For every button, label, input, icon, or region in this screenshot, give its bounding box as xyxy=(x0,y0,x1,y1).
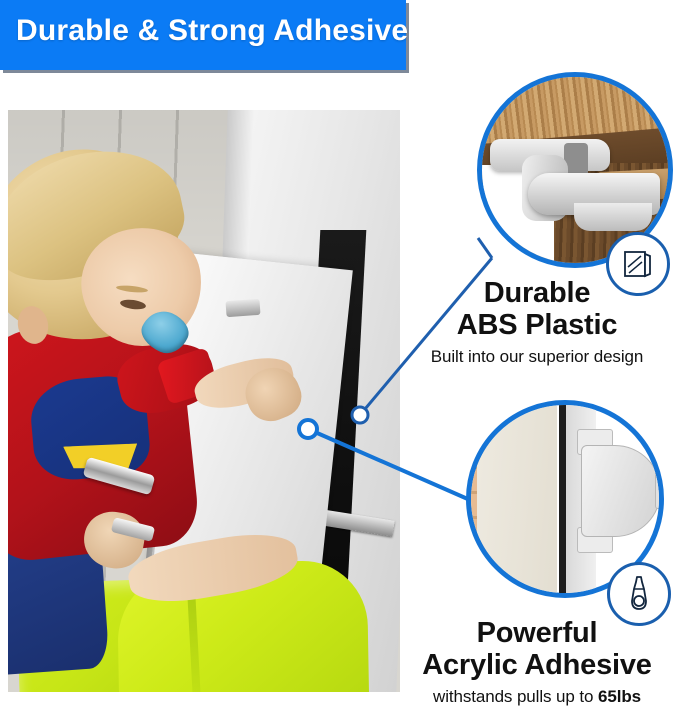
callout-text-durable-abs-plastic: Durable ABS Plastic Built into our super… xyxy=(400,278,674,368)
powerful-subtext-plain: withstands pulls up to xyxy=(433,687,598,706)
banner-title: Durable & Strong Adhesive xyxy=(16,14,408,48)
main-product-photo xyxy=(8,110,400,692)
powerful-heading-line1: Powerful xyxy=(400,618,674,649)
cabinet-surface xyxy=(477,401,557,598)
glue-bottle-icon xyxy=(622,575,656,613)
latch-release-nub xyxy=(655,467,664,509)
latch-rounded-body xyxy=(581,445,661,537)
durable-heading-line1: Durable xyxy=(400,278,674,309)
powerful-subtext-bold: 65lbs xyxy=(598,687,641,706)
plastic-sheet-icon xyxy=(620,246,656,282)
adhesive-joint-line xyxy=(559,400,566,598)
callout-text-powerful-acrylic-adhesive: Powerful Acrylic Adhesive withstands pul… xyxy=(400,618,674,708)
durable-subtext: Built into our superior design xyxy=(400,346,674,368)
powerful-heading-line2: Acrylic Adhesive xyxy=(400,649,674,681)
durable-heading-line2: ABS Plastic xyxy=(400,309,674,341)
header-banner: Durable & Strong Adhesive xyxy=(0,0,406,70)
latch-arm-tip xyxy=(574,203,652,231)
glue-bottle-badge xyxy=(607,562,671,626)
upper-drawer-handle xyxy=(225,299,260,317)
powerful-subtext: withstands pulls up to 65lbs xyxy=(400,686,674,708)
infographic-root: Durable & Strong Adhesive xyxy=(0,0,679,713)
